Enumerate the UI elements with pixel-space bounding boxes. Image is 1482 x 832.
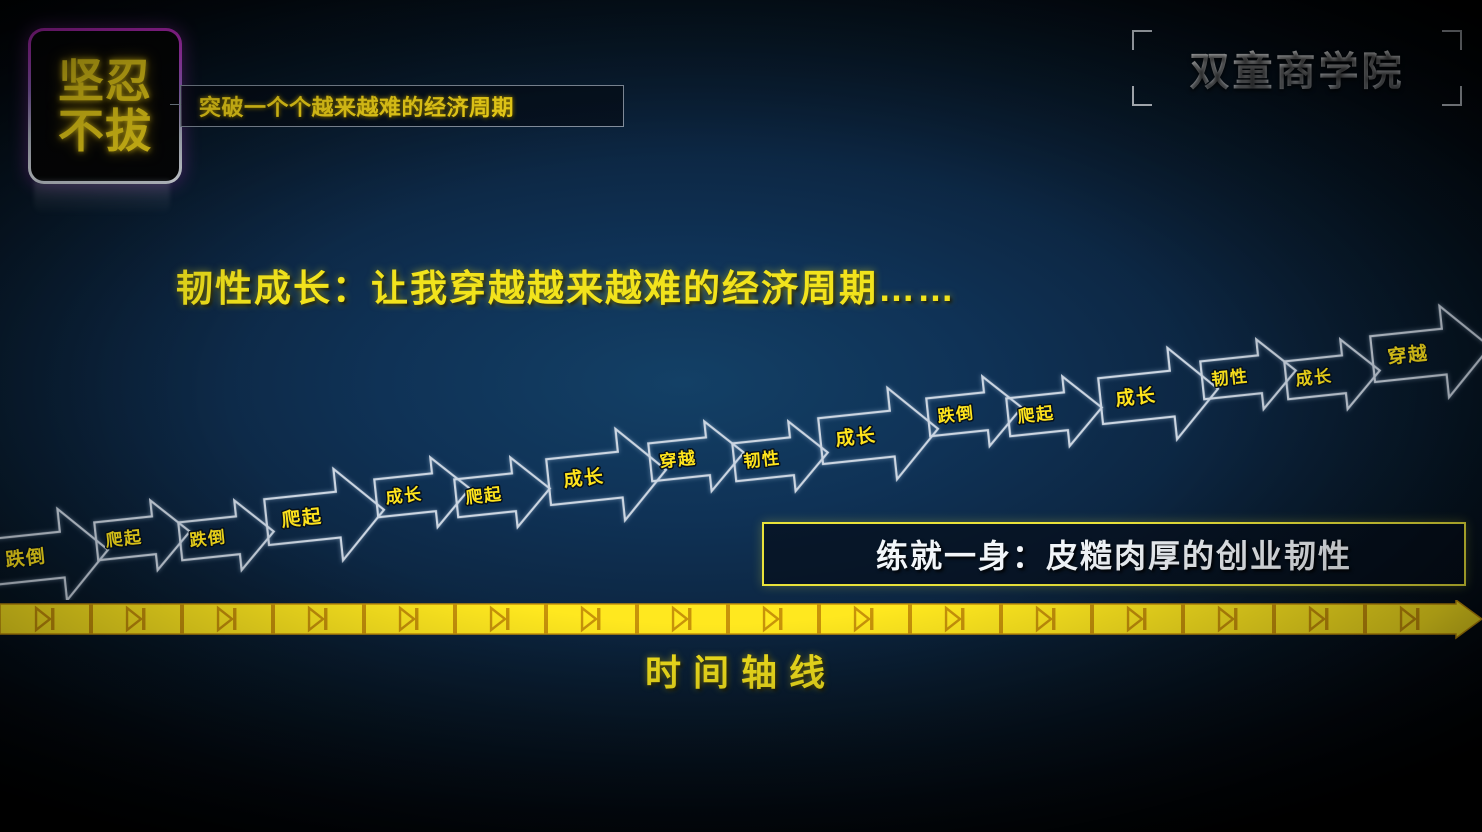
timeline-segment-divider bbox=[180, 604, 184, 634]
skip-forward-icon-bar bbox=[415, 608, 418, 630]
brand-logo-text: 双童商学院 bbox=[1132, 39, 1462, 97]
skip-forward-icon-bar bbox=[870, 608, 873, 630]
timeline-segment-divider bbox=[635, 604, 639, 634]
timeline-segment-divider bbox=[89, 604, 93, 634]
timeline-segment-divider bbox=[817, 604, 821, 634]
keyword-badge-line-2: 不拔 bbox=[58, 107, 152, 155]
stage-arrow-label: 韧性 bbox=[1211, 366, 1250, 390]
timeline-axis-label: 时间轴线 bbox=[0, 644, 1482, 696]
timeline-segment-divider bbox=[271, 604, 275, 634]
skip-forward-icon-bar bbox=[1325, 608, 1328, 630]
timeline-segment-divider bbox=[362, 604, 366, 634]
skip-forward-icon-bar bbox=[233, 608, 236, 630]
slide-canvas: 坚忍 不拔 突破一个个越来越难的经济周期 双童商学院 韧性成长：让我穿越越来越难… bbox=[0, 0, 1482, 832]
stage-arrow-label: 穿越 bbox=[659, 448, 698, 472]
timeline-segment-divider bbox=[1090, 604, 1094, 634]
timeline-svg bbox=[0, 600, 1482, 646]
subtitle-banner: 突破一个个越来越难的经济周期 bbox=[180, 85, 624, 127]
skip-forward-icon-bar bbox=[142, 608, 145, 630]
stage-arrow-label: 成长 bbox=[834, 423, 877, 450]
stage-arrow-label: 爬起 bbox=[465, 484, 504, 508]
timeline-segment-divider bbox=[1181, 604, 1185, 634]
stage-arrow-label: 跌倒 bbox=[937, 404, 976, 427]
skip-forward-icon-bar bbox=[324, 608, 327, 630]
timeline-segment-divider bbox=[726, 604, 730, 634]
skip-forward-icon-bar bbox=[51, 608, 54, 630]
skip-forward-icon-bar bbox=[961, 608, 964, 630]
skip-forward-icon-bar bbox=[1416, 608, 1419, 630]
stage-arrow-label: 爬起 bbox=[279, 504, 323, 531]
timeline-segment-divider bbox=[1272, 604, 1276, 634]
callout-text: 练就一身：皮糙肉厚的创业韧性 bbox=[876, 531, 1352, 577]
stage-arrow-label: 爬起 bbox=[1017, 403, 1056, 427]
keyword-badge-reflection bbox=[34, 180, 170, 214]
skip-forward-icon-bar bbox=[506, 608, 509, 630]
skip-forward-icon-bar bbox=[779, 608, 782, 630]
callout-banner: 练就一身：皮糙肉厚的创业韧性 bbox=[762, 522, 1466, 586]
brand-logo: 双童商学院 bbox=[1132, 30, 1462, 106]
stage-arrow-label: 爬起 bbox=[105, 527, 144, 551]
keyword-badge-inner: 坚忍 不拔 bbox=[31, 31, 179, 181]
timeline-segment-divider bbox=[453, 604, 457, 634]
stage-arrow-label: 成长 bbox=[385, 484, 424, 508]
subtitle-text: 突破一个个越来越难的经济周期 bbox=[181, 90, 514, 122]
stage-arrow-label: 成长 bbox=[562, 464, 605, 491]
timeline-segment-divider bbox=[908, 604, 912, 634]
timeline-segment-divider bbox=[544, 604, 548, 634]
skip-forward-icon-bar bbox=[1234, 608, 1237, 630]
stage-arrow-label: 跌倒 bbox=[4, 544, 47, 571]
timeline-segment-divider bbox=[1363, 604, 1367, 634]
skip-forward-icon-bar bbox=[1143, 608, 1146, 630]
keyword-badge-line-1: 坚忍 bbox=[58, 57, 152, 105]
stage-arrow-label: 韧性 bbox=[743, 448, 782, 472]
timeline-axis bbox=[0, 600, 1482, 646]
skip-forward-icon-bar bbox=[688, 608, 691, 630]
skip-forward-icon-bar bbox=[1052, 608, 1055, 630]
timeline-segment-divider bbox=[999, 604, 1003, 634]
keyword-badge: 坚忍 不拔 bbox=[28, 28, 182, 184]
stage-arrow-label: 穿越 bbox=[1386, 341, 1429, 368]
skip-forward-icon-bar bbox=[597, 608, 600, 630]
stage-arrow-label: 跌倒 bbox=[189, 528, 228, 551]
stage-arrow-label: 成长 bbox=[1295, 366, 1334, 390]
stage-arrow-label: 成长 bbox=[1114, 383, 1157, 410]
timeline-bar bbox=[0, 600, 1482, 638]
